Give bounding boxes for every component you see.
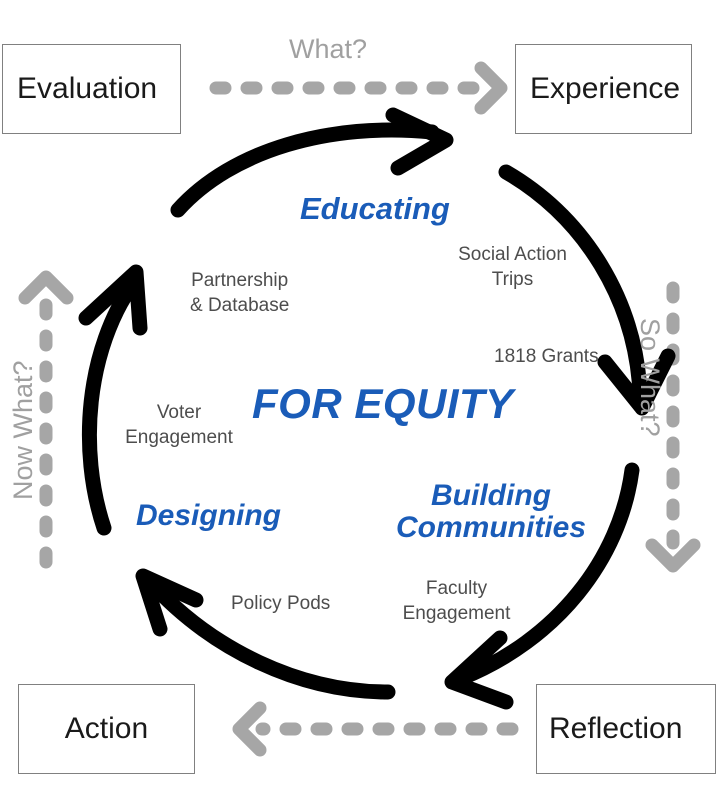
- note-partnership-database: Partnership & Database: [190, 268, 289, 318]
- note-faculty-engagement: Faculty Engagement: [398, 576, 515, 626]
- note-social-action-trips: Social Action Trips: [440, 242, 585, 292]
- note-voter-engagement: Voter Engagement: [122, 400, 236, 450]
- stage-label-building-line2: Communities: [396, 512, 586, 544]
- corner-box-evaluation[interactable]: Evaluation: [2, 44, 181, 134]
- corner-box-experience[interactable]: Experience: [515, 44, 692, 134]
- note-partnership-line1: Partnership: [190, 268, 289, 293]
- question-label-so-what: So What?: [636, 318, 663, 437]
- note-policy-pods: Policy Pods: [231, 591, 330, 616]
- dashed-arrow-left-icon: [239, 708, 512, 750]
- question-label-now-what: Now What?: [10, 360, 37, 500]
- corner-box-action-label: Action: [65, 714, 148, 744]
- center-title: FOR EQUITY: [252, 383, 514, 425]
- note-faculty-line1: Faculty: [398, 576, 515, 601]
- corner-box-evaluation-label: Evaluation: [17, 74, 157, 104]
- stage-label-designing: Designing: [136, 500, 281, 532]
- corner-box-experience-label: Experience: [530, 74, 680, 104]
- note-voter-line2: Engagement: [122, 425, 236, 450]
- note-1818-grants: 1818 Grants: [494, 344, 599, 369]
- question-label-what: What?: [289, 36, 367, 63]
- diagram-canvas: Evaluation Experience Action Reflection …: [0, 0, 720, 798]
- note-social-action-line1: Social Action: [440, 242, 585, 267]
- stage-label-building-line1: Building: [396, 480, 586, 512]
- note-partnership-line2: & Database: [190, 293, 289, 318]
- note-social-action-line2: Trips: [440, 267, 585, 292]
- corner-box-action[interactable]: Action: [18, 684, 195, 774]
- corner-box-reflection-label: Reflection: [549, 714, 682, 744]
- note-voter-line1: Voter: [122, 400, 236, 425]
- corner-box-reflection[interactable]: Reflection: [536, 684, 716, 774]
- stage-label-educating: Educating: [300, 192, 450, 225]
- note-faculty-line2: Engagement: [398, 601, 515, 626]
- dashed-arrow-right-icon: [216, 68, 501, 108]
- stage-label-building-communities: Building Communities: [396, 480, 586, 545]
